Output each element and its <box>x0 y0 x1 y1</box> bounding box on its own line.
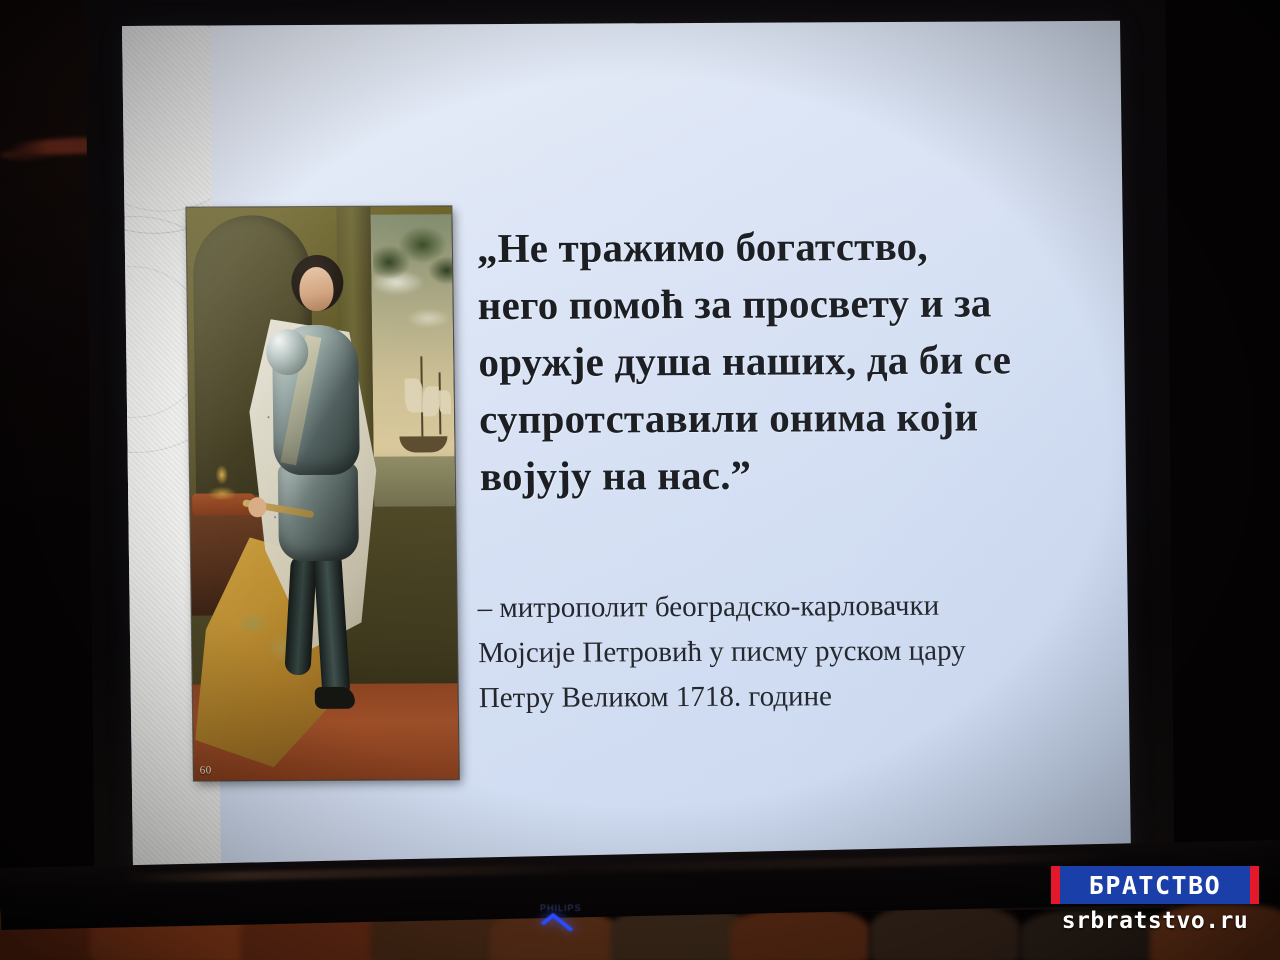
watermark-brand-bar: БРАТСТВО <box>1051 866 1259 904</box>
watermark-brand-text: БРАТСТВО <box>1089 873 1221 898</box>
background-light-glint-secondary <box>0 150 60 160</box>
painting-figure-boot <box>315 687 355 709</box>
quote-line: „Не тражимо богатство, <box>477 217 1088 277</box>
decorative-arc-icon <box>122 26 221 213</box>
painting-figure-head <box>299 267 334 311</box>
attribution-line: Мојсије Петровић у писму руском цару <box>478 628 1099 676</box>
slide-attribution: – митрополит београдско-карловачки Мојси… <box>477 583 1099 721</box>
slide-canvas: 60 „Не тражимо богатство, него помоћ за … <box>122 21 1131 878</box>
tv-brand-label: PHILIPS <box>540 903 582 913</box>
quote-line: супротставили онима који <box>479 388 1090 448</box>
painting-corner-label: 60 <box>200 765 212 777</box>
quote-line: војују на нас.” <box>480 445 1091 505</box>
presentation-slide: 60 „Не тражимо богатство, него помоћ за … <box>122 21 1131 878</box>
tv-power-indicator: PHILIPS <box>538 912 580 938</box>
quote-line: оружје душа наших, да би се <box>478 331 1089 391</box>
slide-quote: „Не тражимо богатство, него помоћ за про… <box>477 217 1091 505</box>
watermark-logo: БРАТСТВО srbratstvo.ru <box>1051 866 1259 942</box>
painting-ship-icon <box>394 356 453 466</box>
quote-line: него помоћ за просвету и за <box>477 274 1088 334</box>
painting-figure-hand <box>248 497 266 517</box>
watermark-url-text: srbratstvo.ru <box>1051 908 1259 934</box>
painting-armour-pauldron <box>266 329 309 375</box>
painting-crown-icon <box>202 461 242 499</box>
screenshot-root: 60 „Не тражимо богатство, него помоћ за … <box>0 0 1280 960</box>
attribution-line: Петру Великом 1718. године <box>479 673 1100 721</box>
decorative-arc-icon <box>122 26 221 235</box>
painting-foliage <box>372 210 453 296</box>
attribution-line: – митрополит београдско-карловачки <box>477 583 1098 631</box>
slide-image-peter-the-great: 60 <box>186 206 459 780</box>
chevron-up-icon <box>541 913 574 940</box>
